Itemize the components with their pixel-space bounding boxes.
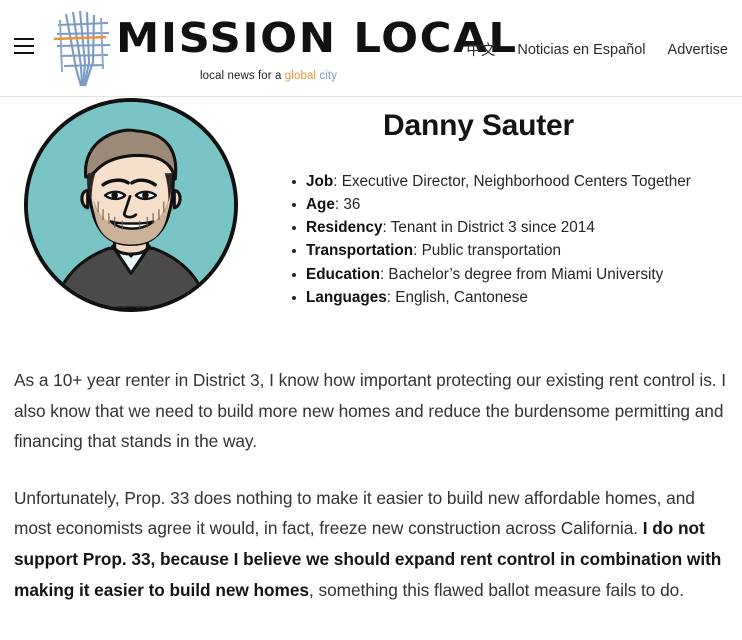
hamburger-bar-3: [14, 52, 34, 54]
statement-lead: Unfortunately, Prop. 33 does nothing to …: [14, 488, 695, 539]
fact-label: Transportation: [306, 242, 413, 259]
fact-value: : Executive Director, Neighborhood Cente…: [333, 173, 691, 190]
fact-label: Job: [306, 173, 333, 190]
nav-chinese[interactable]: 中文: [466, 39, 495, 60]
list-item: Job: Executive Director, Neighborhood Ce…: [306, 170, 728, 193]
fact-value: : English, Cantonese: [387, 289, 528, 306]
tagline-city: city: [319, 70, 337, 82]
site-tagline: local news for a global city: [200, 70, 337, 82]
hamburger-menu-icon[interactable]: [14, 38, 34, 54]
list-item: Education: Bachelor’s degree from Miami …: [306, 263, 728, 286]
candidate-facts-list: Job: Executive Director, Neighborhood Ce…: [14, 170, 728, 310]
site-brand[interactable]: MISSION LOCAL local news for a global ci…: [48, 4, 468, 94]
candidate-profile: Danny Sauter Job: Executive Director, Ne…: [14, 97, 728, 325]
list-item: Age: 36: [306, 193, 728, 216]
fact-label: Education: [306, 266, 380, 283]
mission-local-grid-logo-icon: [48, 6, 118, 92]
list-item: Languages: English, Cantonese: [306, 286, 728, 309]
hamburger-bar-1: [14, 38, 34, 40]
nav-advertise[interactable]: Advertise: [668, 42, 728, 58]
tagline-prefix: local news for a: [200, 70, 285, 82]
list-item: Transportation: Public transportation: [306, 239, 728, 262]
site-wordmark[interactable]: MISSION LOCAL: [116, 18, 518, 59]
fact-label: Residency: [306, 219, 383, 236]
candidate-statement: As a 10+ year renter in District 3, I kn…: [14, 325, 728, 605]
statement-paragraph-2: Unfortunately, Prop. 33 does nothing to …: [14, 483, 728, 605]
hamburger-bar-2: [14, 45, 34, 47]
fact-label: Languages: [306, 289, 387, 306]
list-item: Residency: Tenant in District 3 since 20…: [306, 216, 728, 239]
fact-value: : Bachelor’s degree from Miami Universit…: [380, 266, 663, 283]
fact-label: Age: [306, 196, 335, 213]
fact-value: : Tenant in District 3 since 2014: [383, 219, 595, 236]
top-navigation: 中文 Noticias en Español Advertise: [466, 39, 728, 60]
fact-value: : 36: [335, 196, 361, 213]
statement-paragraph-1: As a 10+ year renter in District 3, I kn…: [14, 365, 728, 457]
page-content: Danny Sauter Job: Executive Director, Ne…: [0, 97, 742, 605]
site-header: MISSION LOCAL local news for a global ci…: [0, 0, 742, 97]
tagline-global: global: [285, 70, 316, 82]
nav-spanish[interactable]: Noticias en Español: [517, 42, 645, 58]
statement-tail: , something this flawed ballot measure f…: [309, 580, 684, 600]
fact-value: : Public transportation: [413, 242, 561, 259]
